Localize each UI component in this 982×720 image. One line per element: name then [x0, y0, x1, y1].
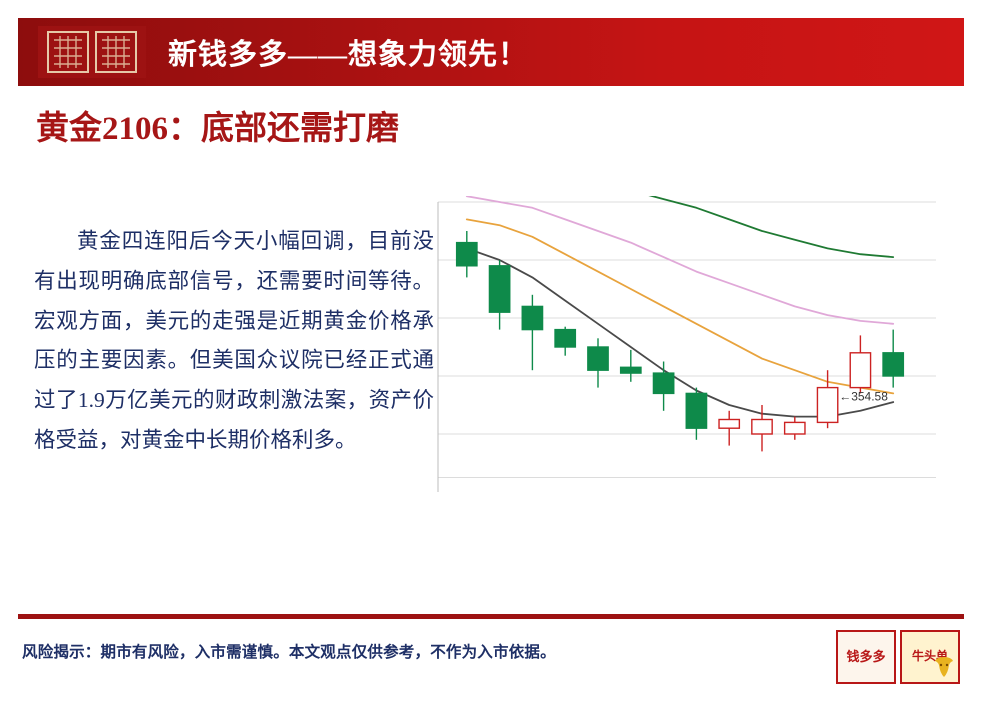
svg-text:←354.58: ←354.58	[839, 390, 888, 404]
qian-duo-duo-logo-text: 钱多多	[846, 650, 885, 664]
header-title: 新钱多多——想象力领先！	[168, 31, 528, 73]
bull-icon	[932, 655, 956, 681]
qian-duo-duo-logo: 钱多多	[836, 630, 896, 684]
risk-disclaimer: 风险揭示：期市有风险，入市需谨慎。本文观点仅供参考，不作为入市依据。	[22, 640, 556, 662]
footer-divider	[18, 614, 964, 619]
candlestick-chart: ←354.58	[424, 196, 944, 526]
page-title: 黄金2106：底部还需打磨	[36, 106, 426, 154]
qian-duo-duo-seal-logo	[38, 26, 146, 78]
body-paragraph: 黄金四连阳后今天小幅回调，目前没有出现明确底部信号，还需要时间等待。宏观方面，美…	[34, 222, 434, 461]
header-banner: 新钱多多——想象力领先！	[18, 18, 964, 86]
niu-tou-dan-logo: 牛头单	[900, 630, 960, 684]
footer-logos: 钱多多 牛头单	[836, 630, 960, 684]
slide-page: 新钱多多——想象力领先！ 黄金2106：底部还需打磨 黄金四连阳后今天小幅回调，…	[0, 0, 982, 720]
